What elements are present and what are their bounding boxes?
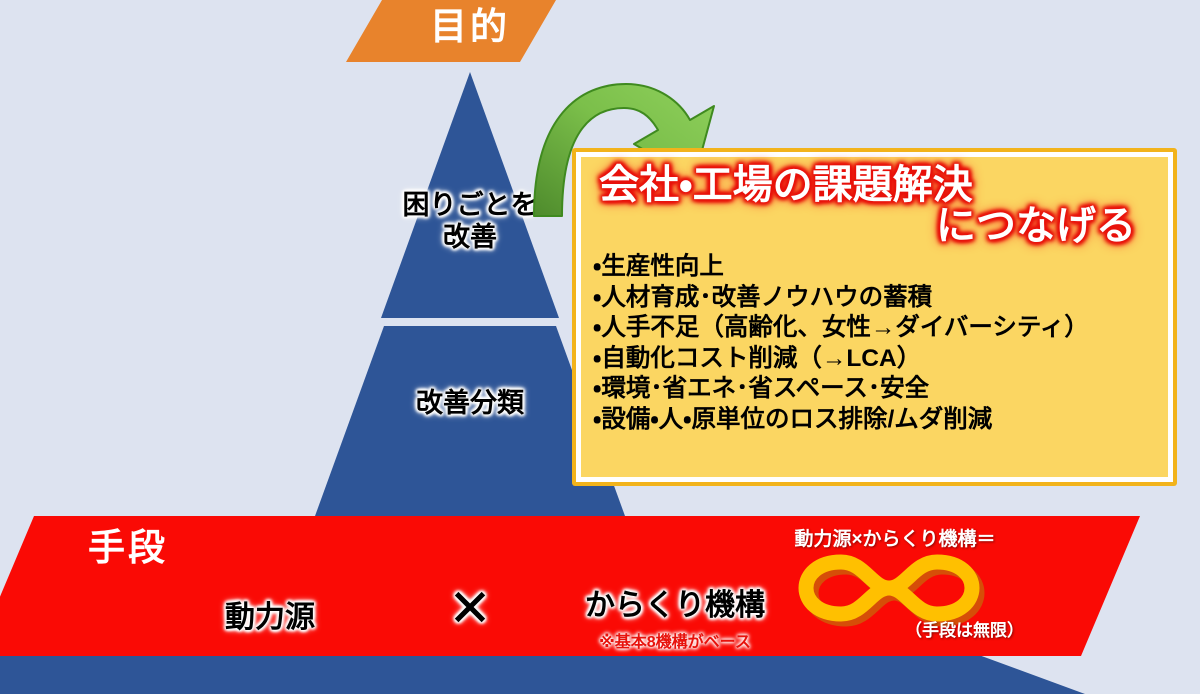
power-source-label: 動力源 xyxy=(175,600,365,635)
list-item: 設備・人・原単位のロス排除/ムダ削減 xyxy=(593,405,1158,436)
mechanism-label: からくり機構 xyxy=(560,588,790,623)
callout-inner: 会社・工場の課題解決 につなげる 生産性向上 人材育成･改善ノウハウの蓄積 人手… xyxy=(576,152,1173,482)
purpose-banner-label: 目的 xyxy=(390,8,550,45)
callout-bullet-list: 生産性向上 人材育成･改善ノウハウの蓄積 人手不足（高齢化、女性→ダイバーシティ… xyxy=(593,252,1158,435)
list-item: 生産性向上 xyxy=(593,252,1158,283)
callout-title-line2: につなげる xyxy=(593,205,1158,248)
callout-box: 会社・工場の課題解決 につなげる 生産性向上 人材育成･改善ノウハウの蓄積 人手… xyxy=(572,148,1177,486)
result-formula-label: 動力源×からくり機構＝ xyxy=(745,530,1045,549)
list-item: 自動化コスト削減（→LCA） xyxy=(593,344,1158,375)
callout-title: 会社・工場の課題解決 につなげる xyxy=(593,164,1158,248)
infinity-stroke xyxy=(806,562,972,614)
list-item: 人手不足（高齢化、女性→ダイバーシティ） xyxy=(593,313,1158,344)
multiply-icon: ✕ xyxy=(410,583,530,635)
result-note-label: （手段は無限） xyxy=(905,622,1095,639)
infinity-symbol xyxy=(790,548,980,628)
callout-title-line1: 会社・工場の課題解決 xyxy=(593,164,1158,207)
diagram-canvas: 困りごとを 改善 改善分類 手段 動力源×からくり機構＝ （手段は無限） 動力源… xyxy=(0,0,1200,694)
list-item: 環境･省エネ･省スペース･安全 xyxy=(593,374,1158,405)
list-item: 人材育成･改善ノウハウの蓄積 xyxy=(593,283,1158,314)
mechanism-note-label: ※基本8機構がベース xyxy=(560,628,790,652)
means-banner-label: 手段 xyxy=(48,529,208,566)
